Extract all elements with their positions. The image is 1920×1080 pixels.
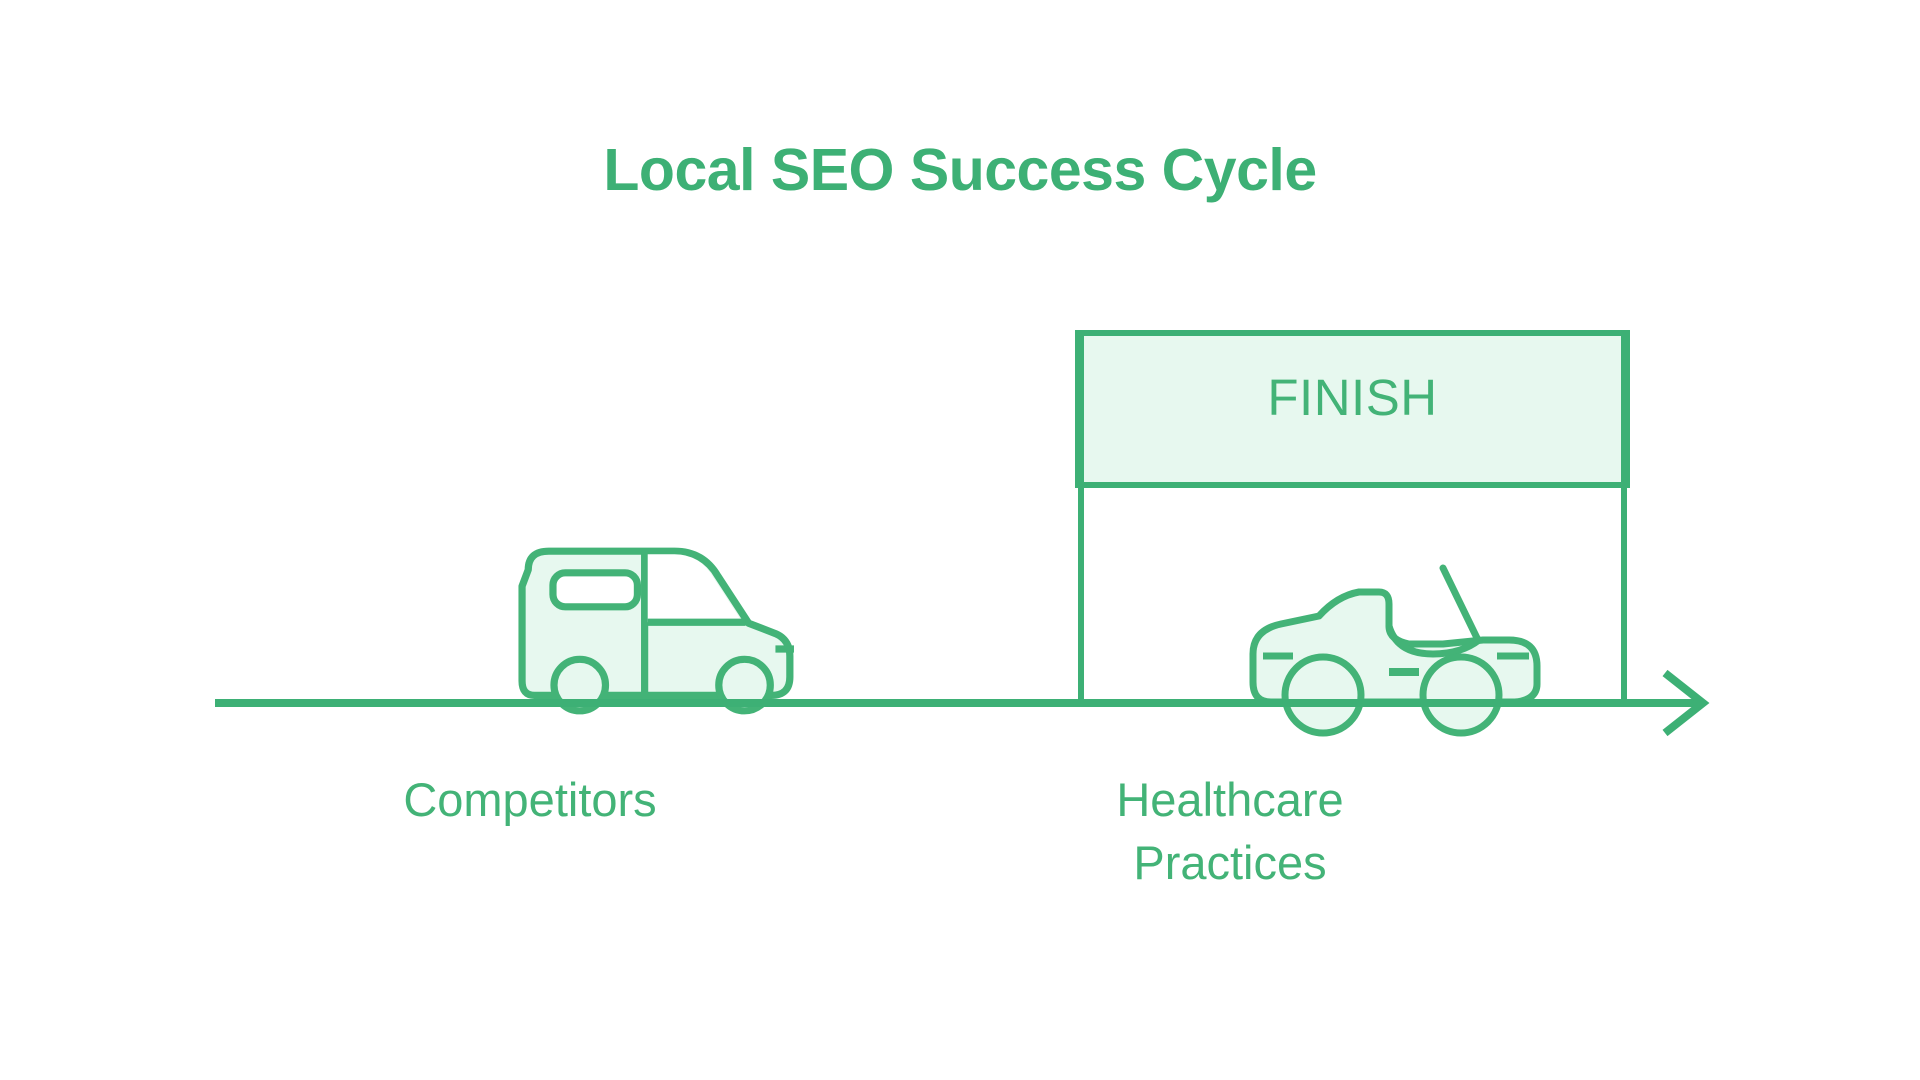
label-healthcare-practices: Healthcare Practices xyxy=(1075,768,1385,895)
car-wheel-front xyxy=(1423,657,1499,733)
infographic-canvas: Local SEO Success Cycle xyxy=(0,0,1920,1080)
convertible-car-icon xyxy=(1253,568,1537,733)
car-windshield xyxy=(1443,568,1477,638)
race-scene-illustration xyxy=(0,0,1920,1080)
car-wheel-rear xyxy=(1285,657,1361,733)
label-competitors: Competitors xyxy=(330,768,730,831)
van-window xyxy=(553,573,637,607)
finish-banner-label: FINISH xyxy=(1076,372,1629,423)
delivery-van-icon xyxy=(522,551,794,711)
